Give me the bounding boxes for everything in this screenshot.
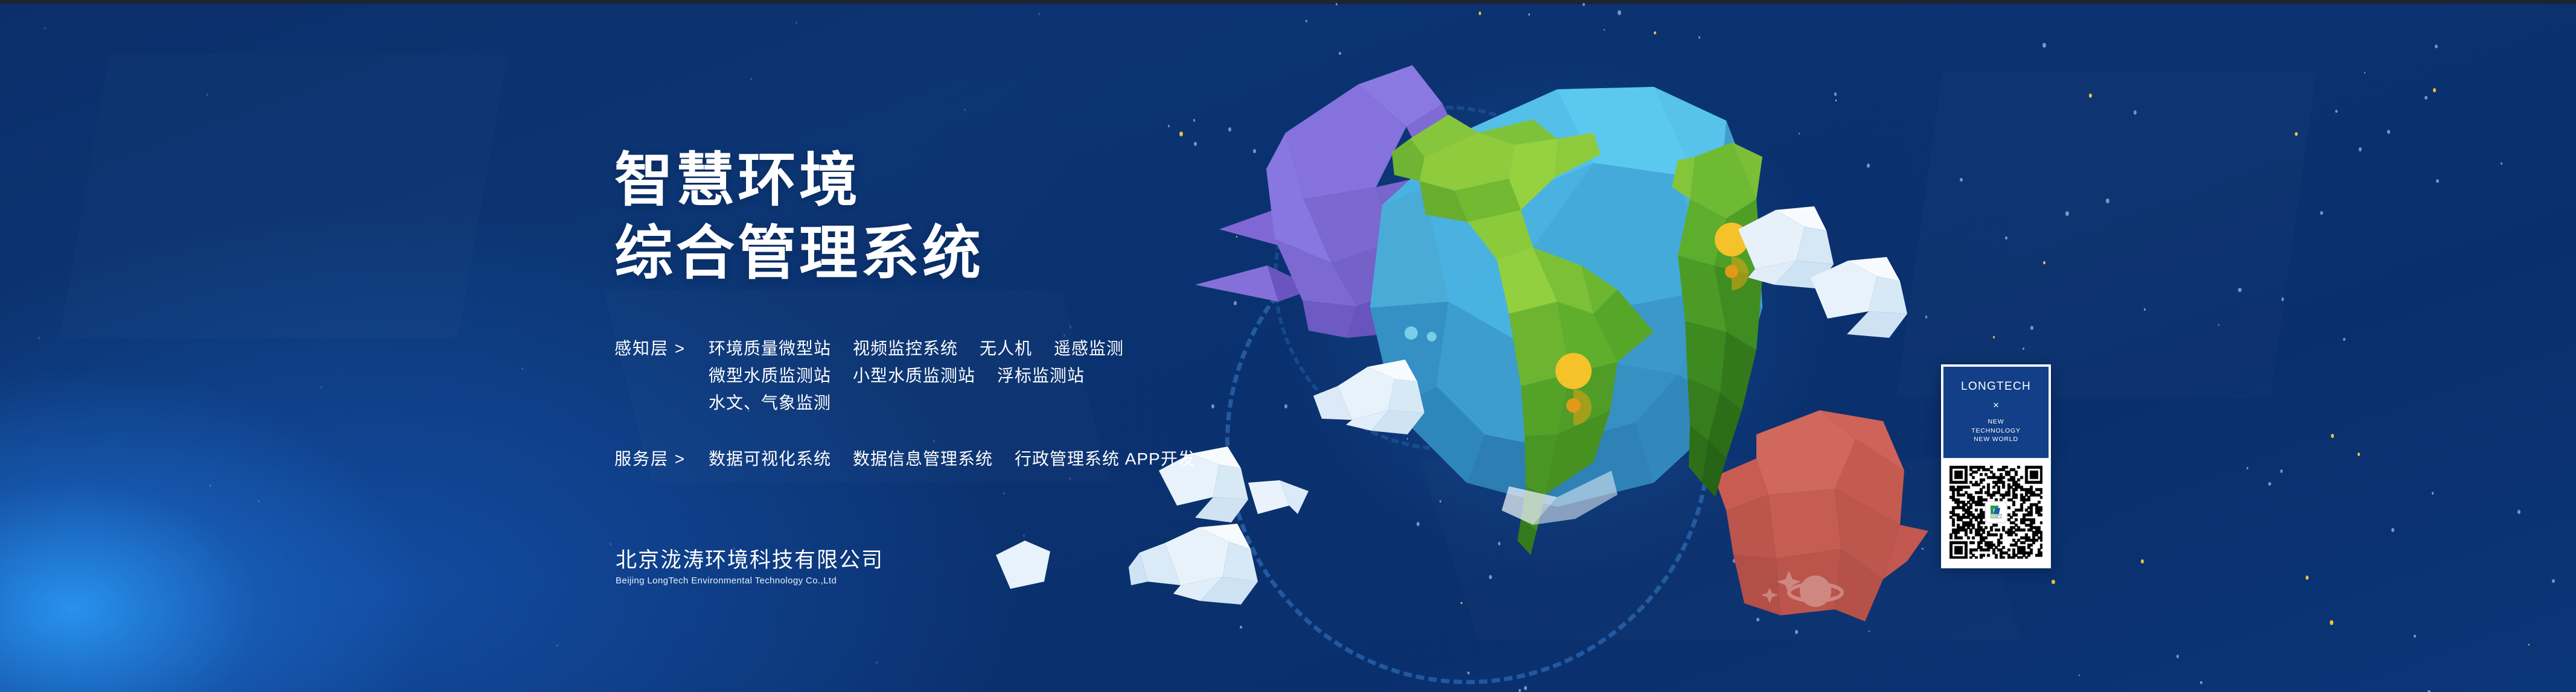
star-dot: [1618, 10, 1621, 15]
star-dot: [2144, 308, 2146, 311]
star-dot: [206, 94, 208, 96]
star-dot: [521, 367, 523, 370]
page-title-line1: 智慧环境: [614, 144, 1399, 217]
star-dot: [258, 500, 260, 503]
star-dot: [2089, 94, 2092, 98]
star-dot: [2517, 510, 2520, 514]
star-dot: [2238, 288, 2242, 292]
qr-card-header: LONGTECH × NEW TECHNOLOGY NEW WORLD: [1943, 366, 2049, 459]
star-dot: [1519, 689, 1521, 692]
qr-code[interactable]: 北京泷涛环境 科技有限公司: [1950, 466, 2042, 559]
qr-logo-caption-2: 科技有限公司: [1990, 517, 2002, 519]
star-dot: [2335, 110, 2338, 113]
star-dot: [2005, 236, 2007, 240]
star-dot: [2358, 452, 2360, 456]
star-dot: [750, 78, 752, 80]
top-bar: [0, 0, 2576, 4]
star-dot: [209, 484, 211, 487]
longtech-logo-icon: [1991, 506, 2002, 514]
company-name-cn: 北京泷涛环境科技有限公司: [616, 548, 884, 574]
star-dot: [2425, 96, 2428, 100]
star-dot: [610, 543, 611, 545]
layer-item[interactable]: 视频监控系统: [853, 335, 958, 362]
layer-item-group: 水文、气象监测: [709, 389, 1204, 416]
star-dot: [2330, 620, 2333, 625]
star-dot: [2387, 130, 2390, 134]
layer-row: 感知层 >环境质量微型站视频监控系统无人机遥感监测微型水质监测站小型水质监测站浮…: [614, 335, 1399, 416]
layer-list: 感知层 >环境质量微型站视频监控系统无人机遥感监测微型水质监测站小型水质监测站浮…: [614, 335, 1399, 472]
star-dot: [1583, 3, 1585, 6]
layer-item[interactable]: 小型水质监测站: [853, 362, 975, 389]
layer-item[interactable]: 数据信息管理系统: [853, 445, 993, 472]
star-dot: [2052, 580, 2055, 584]
layer-label: 服务层 >: [614, 445, 709, 472]
star-dot: [1336, 3, 1337, 5]
star-dot: [2432, 492, 2434, 495]
tagline-line-2: TECHNOLOGY: [1971, 427, 2021, 436]
star-dot: [2320, 211, 2323, 215]
star-dot: [2295, 132, 2298, 136]
star-dot: [2134, 110, 2137, 115]
layer-item[interactable]: 无人机: [980, 335, 1032, 362]
hero-text-block: 智慧环境 综合管理系统 感知层 >环境质量微型站视频监控系统无人机遥感监测微型水…: [614, 144, 1399, 501]
star-dot: [2246, 467, 2248, 469]
star-dot: [2042, 43, 2046, 48]
star-dot: [2528, 644, 2530, 646]
hero-banner: 智慧环境 综合管理系统 感知层 >环境质量微型站视频监控系统无人机遥感监测微型水…: [0, 0, 2576, 692]
qr-code-container[interactable]: 北京泷涛环境 科技有限公司: [1948, 464, 2044, 560]
star-dot: [320, 386, 322, 389]
layer-item[interactable]: 浮标监测站: [997, 362, 1085, 389]
star-dot: [1524, 686, 1527, 690]
layer-item[interactable]: 环境质量微型站: [709, 335, 831, 362]
cross-icon: ×: [1993, 400, 1999, 410]
star-dot: [44, 27, 46, 30]
star-dot: [2023, 348, 2024, 350]
layer-items: 数据可视化系统数据信息管理系统行政管理系统 APP开发: [709, 445, 1204, 472]
qr-card[interactable]: LONGTECH × NEW TECHNOLOGY NEW WORLD 北: [1941, 364, 2051, 568]
page-title-line2: 综合管理系统: [614, 217, 1399, 290]
star-dot: [2141, 559, 2144, 563]
star-dot: [2364, 72, 2365, 74]
star-dot: [2359, 147, 2362, 151]
star-dot: [1306, 20, 1307, 22]
layer-items: 环境质量微型站视频监控系统无人机遥感监测微型水质监测站小型水质监测站浮标监测站水…: [709, 335, 1204, 416]
star-dot: [2436, 179, 2439, 183]
cloud-standalone: [1129, 519, 1286, 621]
star-dot: [2043, 261, 2045, 264]
star-dot: [556, 644, 558, 647]
star-dot: [2065, 211, 2069, 216]
star-dot: [1528, 13, 1530, 16]
brand-tagline: NEW TECHNOLOGY NEW WORLD: [1971, 417, 2021, 445]
company-identity: 北京泷涛环境科技有限公司 Beijing LongTech Environmen…: [616, 548, 884, 586]
star-dot: [964, 109, 966, 111]
star-dot: [2433, 88, 2436, 92]
layer-label: 感知层 >: [614, 335, 709, 362]
layer-item[interactable]: 微型水质监测站: [709, 362, 831, 389]
layer-item-group: 微型水质监测站小型水质监测站浮标监测站: [709, 362, 1204, 389]
star-dot: [2414, 635, 2416, 638]
star-dot: [2552, 579, 2555, 583]
star-dot: [2435, 45, 2438, 48]
layer-row: 服务层 >数据可视化系统数据信息管理系统行政管理系统 APP开发: [614, 445, 1399, 472]
layer-item[interactable]: 数据可视化系统: [709, 445, 831, 472]
star-dot: [2306, 576, 2309, 580]
star-dot: [1179, 132, 1183, 136]
star-dot: [2268, 482, 2271, 486]
cloud-bottom-mid: [996, 541, 1050, 589]
layer-item[interactable]: 行政管理系统 APP开发: [1015, 445, 1196, 472]
star-dot: [38, 337, 40, 339]
layer-item-group: 环境质量微型站视频监控系统无人机遥感监测: [709, 335, 1204, 362]
star-dot: [1038, 13, 1040, 15]
qr-center-logo: 北京泷涛环境 科技有限公司: [1986, 502, 2006, 522]
qr-logo-caption: 北京泷涛环境 科技有限公司: [1990, 515, 2002, 519]
layer-item[interactable]: 水文、气象监测: [709, 389, 831, 416]
star-dot: [2331, 434, 2334, 438]
star-dot: [2501, 162, 2502, 165]
tagline-line-3: NEW WORLD: [1971, 435, 2021, 444]
company-name-en: Beijing LongTech Environmental Technolog…: [616, 576, 884, 587]
star-dot: [2343, 338, 2345, 341]
star-dot: [795, 22, 797, 24]
star-dot: [2280, 469, 2283, 473]
brand-name: LONGTECH: [1961, 381, 2031, 392]
bg-shape: [60, 54, 508, 338]
star-dot: [1168, 125, 1170, 127]
star-dot: [1698, 36, 1700, 39]
star-dot: [876, 661, 878, 664]
star-dot: [1604, 29, 1605, 31]
tagline-line-1: NEW: [1971, 417, 2021, 427]
star-dot: [1023, 535, 1025, 537]
star-dot: [2106, 198, 2109, 203]
star-dot: [2176, 655, 2179, 658]
layer-item-group: 数据可视化系统数据信息管理系统行政管理系统 APP开发: [709, 445, 1204, 472]
star-dot: [2391, 528, 2394, 532]
star-dot: [2079, 675, 2080, 676]
star-dot: [2200, 681, 2202, 684]
star-dot: [1479, 11, 1481, 15]
layer-item[interactable]: 遥感监测: [1054, 335, 1124, 362]
star-dot: [1654, 31, 1656, 34]
